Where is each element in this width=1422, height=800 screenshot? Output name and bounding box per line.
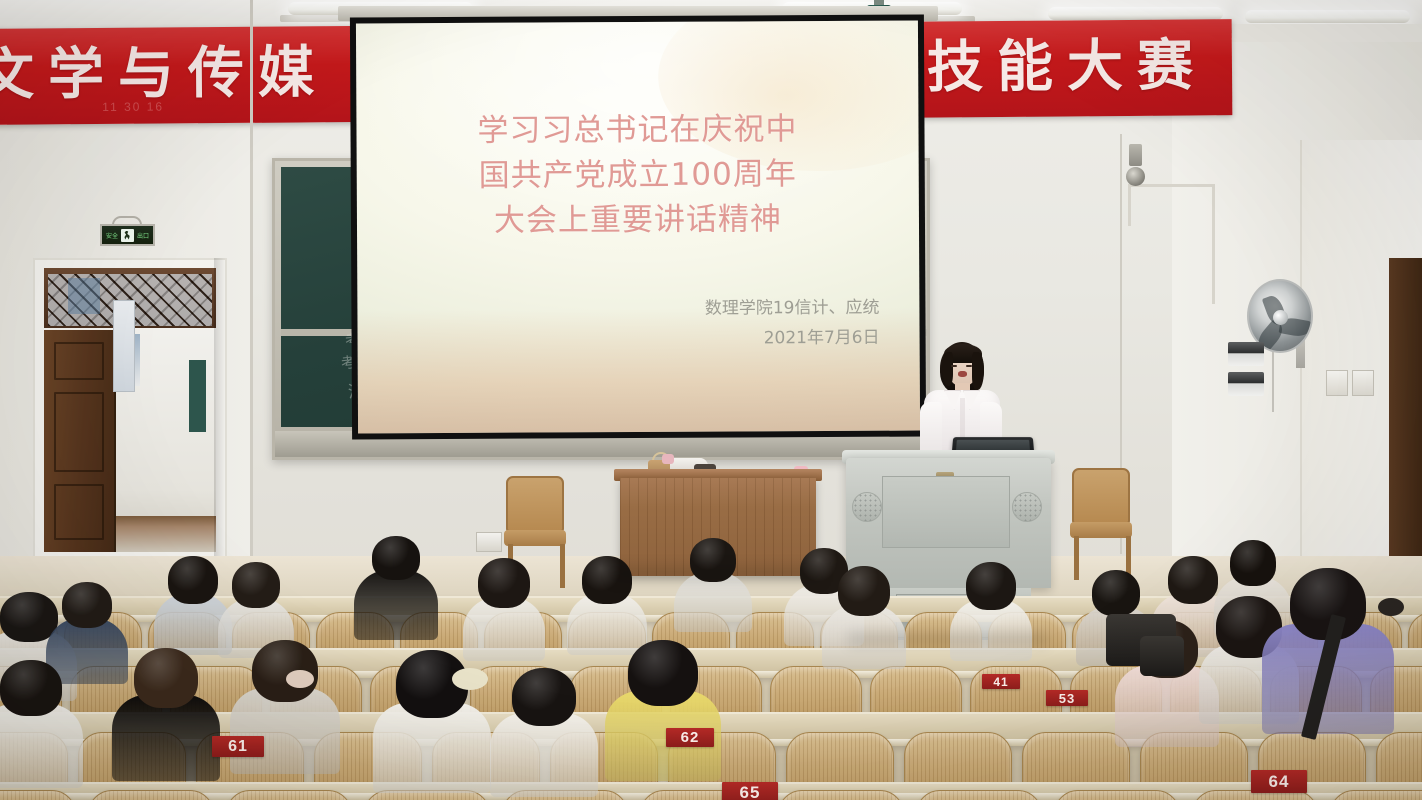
seat-number-62: 62 <box>666 728 714 747</box>
auditorium-seat[interactable] <box>88 790 214 800</box>
fan-power-cord <box>1272 352 1274 412</box>
chair-leg <box>560 544 565 588</box>
corridor-board <box>189 360 206 432</box>
hair-scrunchie <box>286 670 314 688</box>
student-head <box>62 582 112 628</box>
pink-item <box>662 454 674 464</box>
wall-fan-hub <box>1273 310 1288 325</box>
student-head <box>134 648 198 708</box>
auditorium-seat[interactable] <box>1330 790 1422 800</box>
door-jamb-shadow <box>214 258 226 558</box>
student-head <box>512 668 576 726</box>
right-door[interactable] <box>1389 258 1422 558</box>
student-head <box>372 536 420 580</box>
door-leaf[interactable] <box>44 330 116 552</box>
podium-speaker-grille <box>1012 492 1042 522</box>
ceiling-light <box>1048 7 1223 20</box>
running-man-icon <box>121 229 134 242</box>
slide-title-line-1: 学习习总书记在庆祝中 <box>356 107 918 155</box>
student-torso <box>354 570 438 640</box>
exit-sign: 安全 出口 <box>100 224 155 246</box>
student-head <box>1168 556 1218 604</box>
student-head <box>0 660 62 716</box>
seat-number-41: 41 <box>982 674 1020 689</box>
podium-speaker-grille <box>852 492 882 522</box>
security-camera-icon <box>1126 167 1145 186</box>
podium-shadow <box>848 632 1048 646</box>
door-panel <box>54 342 104 380</box>
door-panel <box>54 484 104 540</box>
fire-equipment-box <box>113 300 135 392</box>
podium-front-panel <box>882 476 1010 548</box>
projection-screen: 学习习总书记在庆祝中 国共产党成立100周年 大会上重要讲话精神 数理学院19信… <box>356 21 920 434</box>
student-head <box>168 556 218 604</box>
exit-sign-text-left: 安全 <box>106 231 118 240</box>
backpack <box>1140 636 1184 676</box>
banner-faint-text: 11 30 16 <box>102 100 164 114</box>
seat-number-64: 64 <box>1251 770 1307 793</box>
chair-seat <box>504 530 566 546</box>
wall-seam <box>250 0 253 560</box>
auditorium-seat[interactable] <box>226 790 352 800</box>
student-head <box>838 566 890 616</box>
desk-shadow <box>612 566 822 582</box>
slide-title: 学习习总书记在庆祝中 国共产党成立100周年 大会上重要讲话精神 <box>356 107 919 245</box>
banner-text-left: 文学与传媒 <box>0 34 328 115</box>
chair-back <box>1072 468 1130 524</box>
corridor-floor <box>116 516 216 552</box>
student-head <box>232 562 280 608</box>
slide-title-line-3: 大会上重要讲话精神 <box>357 197 919 245</box>
hair-scrunchie <box>1378 598 1404 616</box>
wall-speaker <box>1228 342 1264 366</box>
slide-subtitle: 数理学院19信计、应统 2021年7月6日 <box>705 293 880 354</box>
presenter-eye <box>951 365 957 367</box>
slide-subtitle-department: 数理学院19信计、应统 <box>705 293 880 324</box>
presenter-mouth <box>958 371 967 377</box>
chair-back <box>506 476 564 532</box>
hair-scrunchie <box>452 668 488 690</box>
projection-screen-frame: 学习习总书记在庆祝中 国共产党成立100周年 大会上重要讲话精神 数理学院19信… <box>350 15 926 440</box>
presenter-hair-side <box>972 352 984 390</box>
slide-subtitle-date: 2021年7月6日 <box>705 323 880 354</box>
presenter-eye <box>966 365 972 367</box>
student-torso <box>0 704 83 788</box>
wall-conduit <box>1128 184 1214 187</box>
seat-number-61: 61 <box>212 736 264 757</box>
lecture-hall-photo: HaiYuan 文学与传媒 书技能大赛 11 30 16 考 考试 满 学习习总… <box>0 0 1422 800</box>
wall-outlet[interactable] <box>476 532 502 552</box>
auditorium-seat[interactable] <box>778 790 904 800</box>
wall-strip <box>1232 24 1422 42</box>
student-head <box>628 640 698 706</box>
wall-speaker <box>1228 372 1264 396</box>
presenter-hair-side <box>942 352 953 386</box>
light-switch[interactable] <box>1326 370 1348 396</box>
transom-glass <box>68 278 100 314</box>
slide-title-line-2: 国共产党成立100周年 <box>357 152 919 200</box>
student-head <box>478 558 530 608</box>
student-head <box>1092 570 1140 616</box>
auditorium-seat[interactable] <box>916 790 1042 800</box>
chair-seat <box>1070 522 1132 538</box>
door-panel <box>54 392 104 472</box>
light-switch[interactable] <box>1352 370 1374 396</box>
auditorium-seat[interactable] <box>1054 790 1180 800</box>
wall-conduit <box>1128 186 1131 226</box>
security-camera-mount <box>1129 144 1142 166</box>
wall-conduit <box>1212 184 1215 304</box>
seat-number-53: 53 <box>1046 690 1088 706</box>
chair-leg <box>1074 536 1079 580</box>
ceiling-light <box>1245 10 1410 23</box>
exit-sign-text-right: 出口 <box>137 231 149 240</box>
student-head <box>1230 540 1276 586</box>
seat-number-65: 65 <box>722 782 778 800</box>
student-head <box>966 562 1016 610</box>
